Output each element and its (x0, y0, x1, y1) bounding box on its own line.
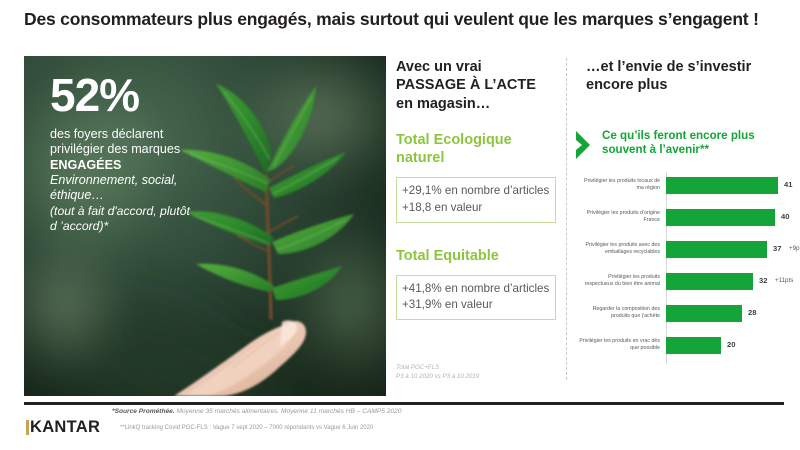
chart-bar-row: Privilégier les produits avec des emball… (578, 236, 796, 262)
chart-bar-row: Privilégier les produits respectueux du … (578, 268, 796, 294)
chart-bar (666, 337, 721, 354)
middle-heading-line-3: en magasin… (396, 95, 556, 113)
chart-bar-track: 37+9pts (664, 241, 796, 258)
chart-bar-value: 28 (748, 308, 756, 317)
middle-heading-line-1: Avec un vrai (396, 58, 556, 76)
chart-bar-value: 41 (784, 180, 792, 189)
chart-bar-value: 20 (727, 340, 735, 349)
stat-box-equitable: +41,8% en nombre d’articles +31,9% en va… (396, 275, 556, 320)
chart-bar-label: Regarder la composition des produits que… (578, 306, 664, 320)
middle-source-line-2: P3 à 10 2020 vs P3 à 10 2019 (396, 373, 556, 382)
footer-source-1: *Source Prométhée. Moyenne 35 marchés al… (112, 407, 532, 417)
middle-source-line-1: Total PGC+FLS (396, 364, 556, 373)
chart-bar-track: 41 (664, 177, 796, 194)
chart-bar-label: Privilégier les produits en vrac dès que… (578, 338, 664, 352)
right-heading-line-2: encore plus (586, 76, 786, 94)
page-title: Des consommateurs plus engagés, mais sur… (24, 8, 784, 31)
chart-bar (666, 177, 778, 194)
chart-bar-label: Privilégier les produits respectueux du … (578, 274, 664, 288)
section-total-ecologique-title: Total Ecologique naturel (396, 131, 556, 167)
chart-bar-label: Privilégier les produits d’origine Franc… (578, 210, 664, 224)
chart-bar (666, 273, 753, 290)
section1-stat-1: +29,1% en nombre d’articles (402, 183, 551, 199)
middle-source-note: Total PGC+FLS P3 à 10 2020 vs P3 à 10 20… (396, 364, 556, 382)
photo-line-5: éthique… (50, 188, 260, 203)
photo-overlay-text: 52% des foyers déclarent privilégier des… (50, 72, 260, 234)
chart-bar-delta: +9pts (789, 245, 800, 252)
chart-bar-row: Privilégier les produits d’origine Franc… (578, 204, 796, 230)
chart-bar-row: Privilégier les produits locaux de ma ré… (578, 172, 796, 198)
chart-bar-track: 28 (664, 305, 796, 322)
chart-bar-label: Privilégier les produits avec des emball… (578, 242, 664, 256)
chart-bar-delta: +11pts (775, 277, 793, 284)
chevron-right-icon (574, 130, 596, 165)
callout-line-1: Ce qu’ils feront encore plus (602, 129, 755, 143)
chart-bar (666, 209, 775, 226)
section1-stat-2: +18,8 en valeur (402, 200, 551, 216)
logo-text: KANTAR (30, 418, 100, 437)
chart-bar-label: Privilégier les produits locaux de ma ré… (578, 178, 664, 192)
logo-gold-bar (26, 420, 29, 435)
middle-column: Avec un vrai PASSAGE À L’ACTE en magasin… (396, 58, 556, 320)
stat-box-ecologique: +29,1% en nombre d’articles +18,8 en val… (396, 177, 556, 222)
hero-photo: 52% des foyers déclarent privilégier des… (24, 56, 386, 396)
chart-bar-row: Privilégier les produits en vrac dès que… (578, 332, 796, 358)
footer-source-2: **LinkQ tracking Covid PGC-FLS : Vague 7… (120, 424, 540, 433)
photo-line-6: (tout à fait d'accord, plutôt (50, 204, 260, 219)
right-heading-line-1: …et l’envie de s’investir (586, 58, 786, 76)
chart-bar (666, 305, 742, 322)
right-heading: …et l’envie de s’investir encore plus (586, 58, 786, 95)
chart-bar-row: Regarder la composition des produits que… (578, 300, 796, 326)
middle-heading: Avec un vrai PASSAGE À L’ACTE en magasin… (396, 58, 556, 113)
photo-line-2: privilégier des marques (50, 142, 260, 157)
section2-stat-1: +41,8% en nombre d’articles (402, 281, 551, 297)
callout-label: Ce qu’ils feront encore plus souvent à l… (602, 128, 755, 158)
footer-rule (24, 402, 784, 405)
future-behaviour-bar-chart: Privilégier les produits locaux de ma ré… (578, 172, 796, 368)
section1-title-line-1: Total Ecologique (396, 131, 556, 149)
section1-title-line-2: naturel (396, 149, 556, 167)
callout-row: Ce qu’ils feront encore plus souvent à l… (574, 128, 789, 165)
chart-bar-value: 32 (759, 276, 767, 285)
chart-bar-value: 40 (781, 212, 789, 221)
chart-bar-track: 40 (664, 209, 796, 226)
photo-line-7: d ’accord)* (50, 219, 260, 234)
section-total-equitable-title: Total Equitable (396, 247, 556, 265)
column-divider (566, 58, 567, 380)
chart-bar (666, 241, 767, 258)
kantar-logo: KANTAR (26, 418, 100, 437)
middle-heading-line-2: PASSAGE À L’ACTE (396, 76, 556, 94)
footer-source-1-rest: Moyenne 35 marchés alimentaires. Moyenne… (175, 408, 402, 415)
callout-line-2: souvent à l’avenir** (602, 143, 755, 157)
footer-source-1-bold: *Source Prométhée. (112, 408, 175, 415)
photo-line-1: des foyers déclarent (50, 127, 260, 142)
chart-bar-track: 32+11pts (664, 273, 796, 290)
chart-bar-value: 37 (773, 244, 781, 253)
section2-stat-2: +31,9% en valeur (402, 297, 551, 313)
stat-52-percent: 52% (50, 72, 260, 118)
photo-line-4: Environnement, social, (50, 173, 260, 188)
photo-line-3: ENGAGÉES (50, 158, 260, 173)
right-column: …et l’envie de s’investir encore plus (586, 58, 786, 95)
chart-bar-track: 20 (664, 337, 796, 354)
